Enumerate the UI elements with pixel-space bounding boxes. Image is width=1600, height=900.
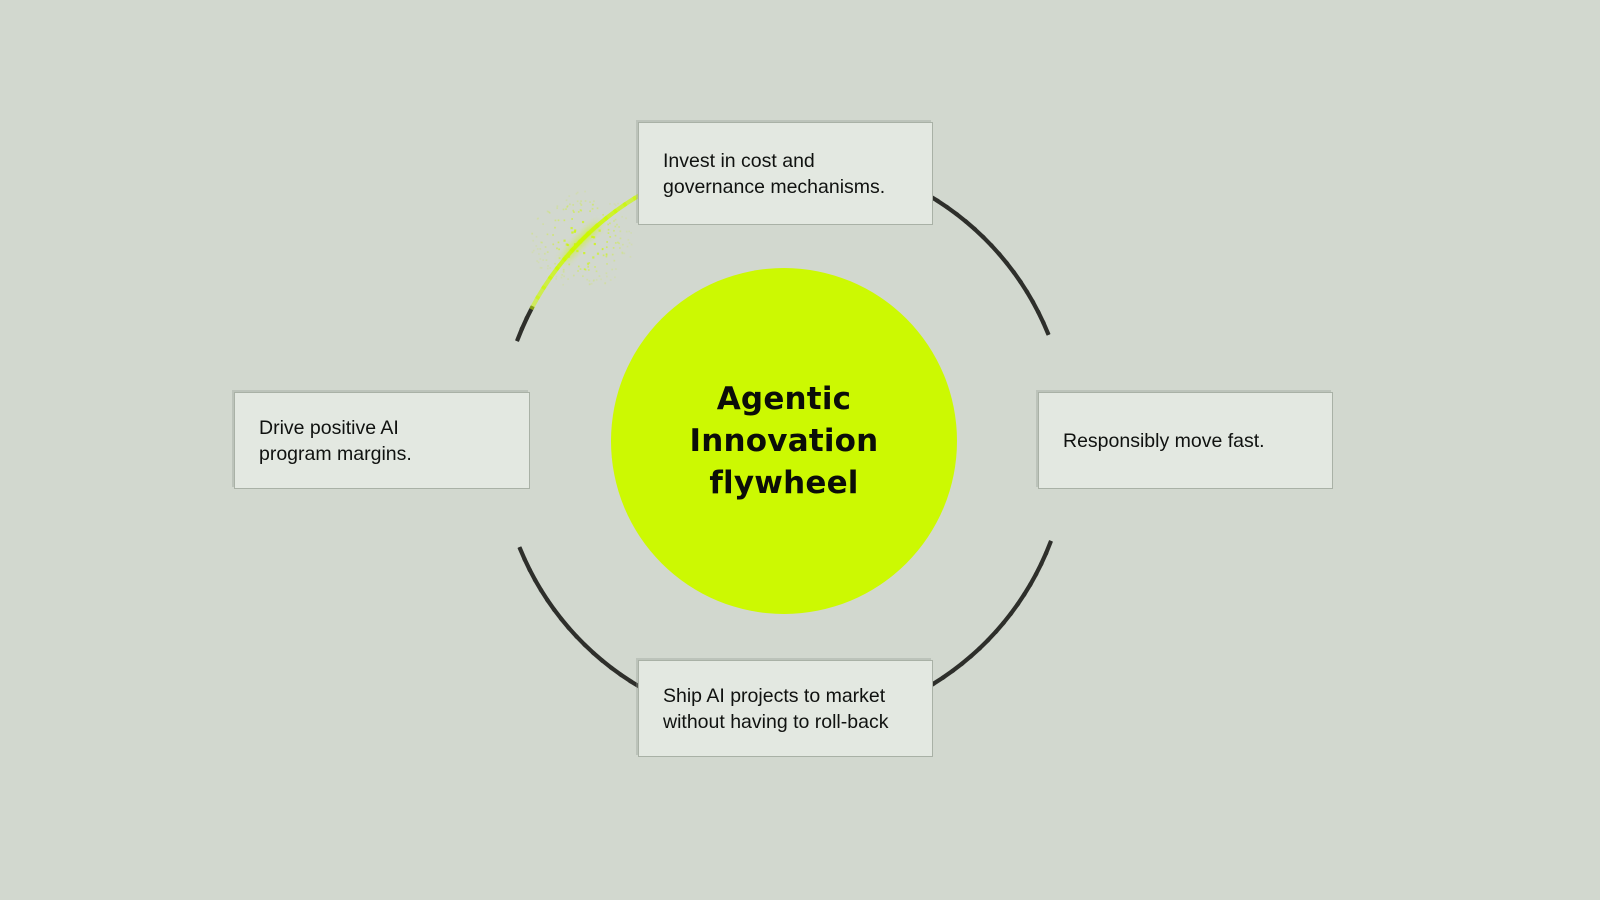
flywheel-center-circle: Agentic Innovation flywheel xyxy=(611,268,957,614)
node-left-label: Drive positive AI program margins. xyxy=(235,415,426,467)
flywheel-title: Agentic Innovation flywheel xyxy=(672,378,897,504)
node-right-label: Responsibly move fast. xyxy=(1039,428,1279,454)
node-responsibly-move-fast[interactable]: Responsibly move fast. xyxy=(1038,392,1333,489)
flywheel-diagram: Agentic Innovation flywheel Invest in co… xyxy=(0,0,1600,900)
node-invest-in-cost-and-governance[interactable]: Invest in cost and governance mechanisms… xyxy=(638,122,933,225)
node-ship-ai-projects-to-market[interactable]: Ship AI projects to market without havin… xyxy=(638,660,933,757)
arc-glow-particles xyxy=(531,191,632,286)
node-top-label: Invest in cost and governance mechanisms… xyxy=(639,148,899,200)
node-bottom-label: Ship AI projects to market without havin… xyxy=(639,683,902,735)
node-drive-positive-ai-program-margins[interactable]: Drive positive AI program margins. xyxy=(234,392,530,489)
